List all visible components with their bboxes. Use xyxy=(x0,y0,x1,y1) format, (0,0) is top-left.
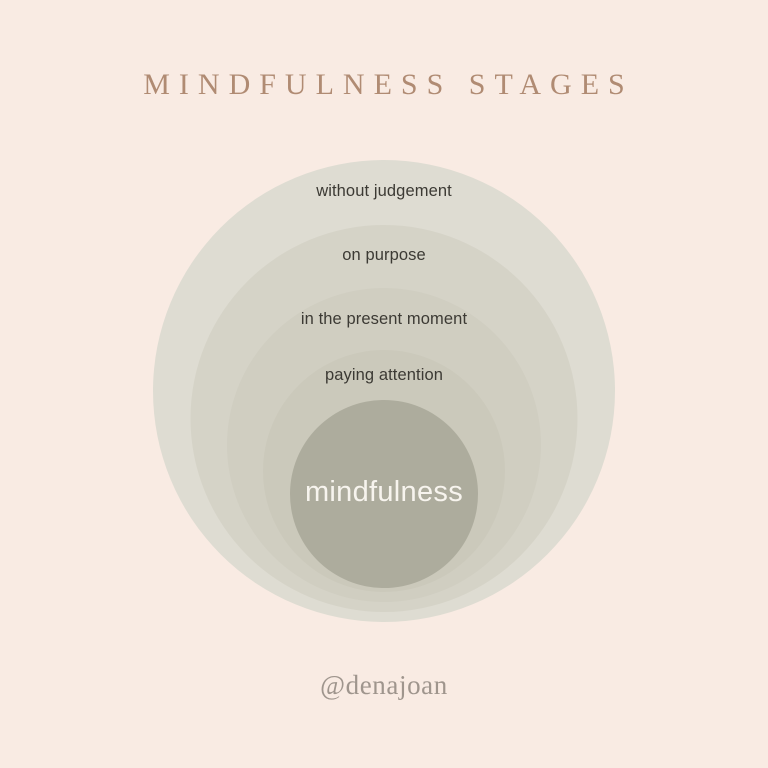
circle-label-on-purpose: on purpose xyxy=(0,246,768,265)
circle-label-paying-attention: paying attention xyxy=(0,366,768,385)
author-handle: @denajoan xyxy=(0,670,768,701)
circle-label-without-judgement: without judgement xyxy=(0,182,768,201)
circle-label-in-the-present-moment: in the present moment xyxy=(0,310,768,329)
poster-canvas: MINDFULNESS STAGES without judgement on … xyxy=(0,0,768,768)
nested-circles-diagram: without judgement on purpose in the pres… xyxy=(0,0,768,768)
circle-label-mindfulness: mindfulness xyxy=(0,476,768,509)
